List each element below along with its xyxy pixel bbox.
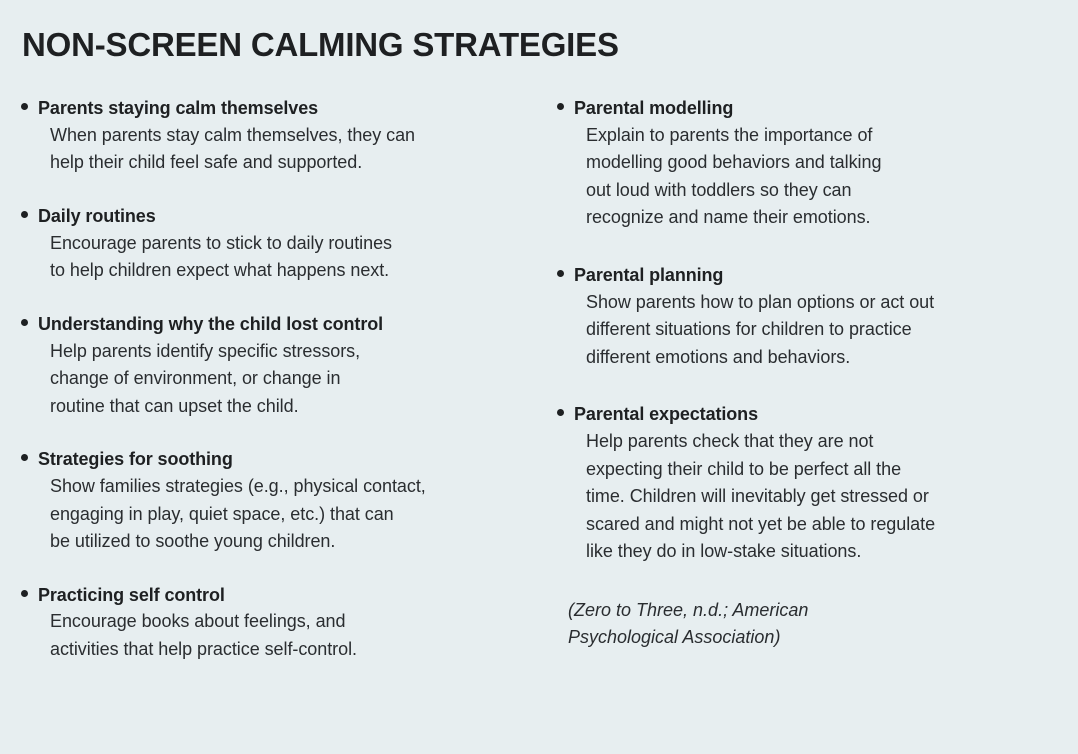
bullet-dot-icon (21, 590, 28, 597)
right-column: Parental modelling Explain to parents th… (546, 96, 1078, 651)
strategy-body: When parents stay calm themselves, they … (38, 122, 534, 177)
bullet-dot-icon (21, 103, 28, 110)
strategy-body: Show families strategies (e.g., physical… (38, 473, 534, 556)
bullet-dot-icon (557, 103, 564, 110)
strategy-body: Encourage books about feelings, and acti… (38, 608, 534, 663)
page-title: NON-SCREEN CALMING STRATEGIES (22, 26, 619, 64)
source-citation: (Zero to Three, n.d.; American Psycholog… (556, 597, 1064, 651)
strategy-heading: Parental modelling (574, 96, 1064, 121)
list-item: Practicing self control Encourage books … (20, 583, 534, 664)
strategy-body: Explain to parents the importance of mod… (574, 122, 1064, 232)
content-columns: Parents staying calm themselves When par… (0, 96, 1078, 664)
strategy-body: Show parents how to plan options or act … (574, 289, 1064, 372)
list-item: Daily routines Encourage parents to stic… (20, 204, 534, 285)
left-column: Parents staying calm themselves When par… (0, 96, 546, 664)
list-item: Parental expectations Help parents check… (556, 402, 1064, 565)
strategy-heading: Understanding why the child lost control (38, 312, 534, 337)
strategy-heading: Practicing self control (38, 583, 534, 608)
strategy-body: Help parents check that they are not exp… (574, 428, 1064, 566)
strategy-heading: Parental expectations (574, 402, 1064, 427)
list-item: Strategies for soothing Show families st… (20, 447, 534, 555)
strategy-heading: Parents staying calm themselves (38, 96, 534, 121)
bullet-dot-icon (557, 270, 564, 277)
strategy-heading: Strategies for soothing (38, 447, 534, 472)
bullet-dot-icon (21, 211, 28, 218)
strategy-heading: Parental planning (574, 263, 1064, 288)
list-item: Parental planning Show parents how to pl… (556, 263, 1064, 371)
bullet-dot-icon (21, 319, 28, 326)
list-item: Parents staying calm themselves When par… (20, 96, 534, 177)
strategy-body: Help parents identify specific stressors… (38, 338, 534, 421)
strategy-heading: Daily routines (38, 204, 534, 229)
calming-strategies-card: NON-SCREEN CALMING STRATEGIES Parents st… (0, 0, 1078, 754)
list-item: Understanding why the child lost control… (20, 312, 534, 420)
strategy-body: Encourage parents to stick to daily rout… (38, 230, 534, 285)
list-item: Parental modelling Explain to parents th… (556, 96, 1064, 232)
bullet-dot-icon (21, 454, 28, 461)
bullet-dot-icon (557, 409, 564, 416)
